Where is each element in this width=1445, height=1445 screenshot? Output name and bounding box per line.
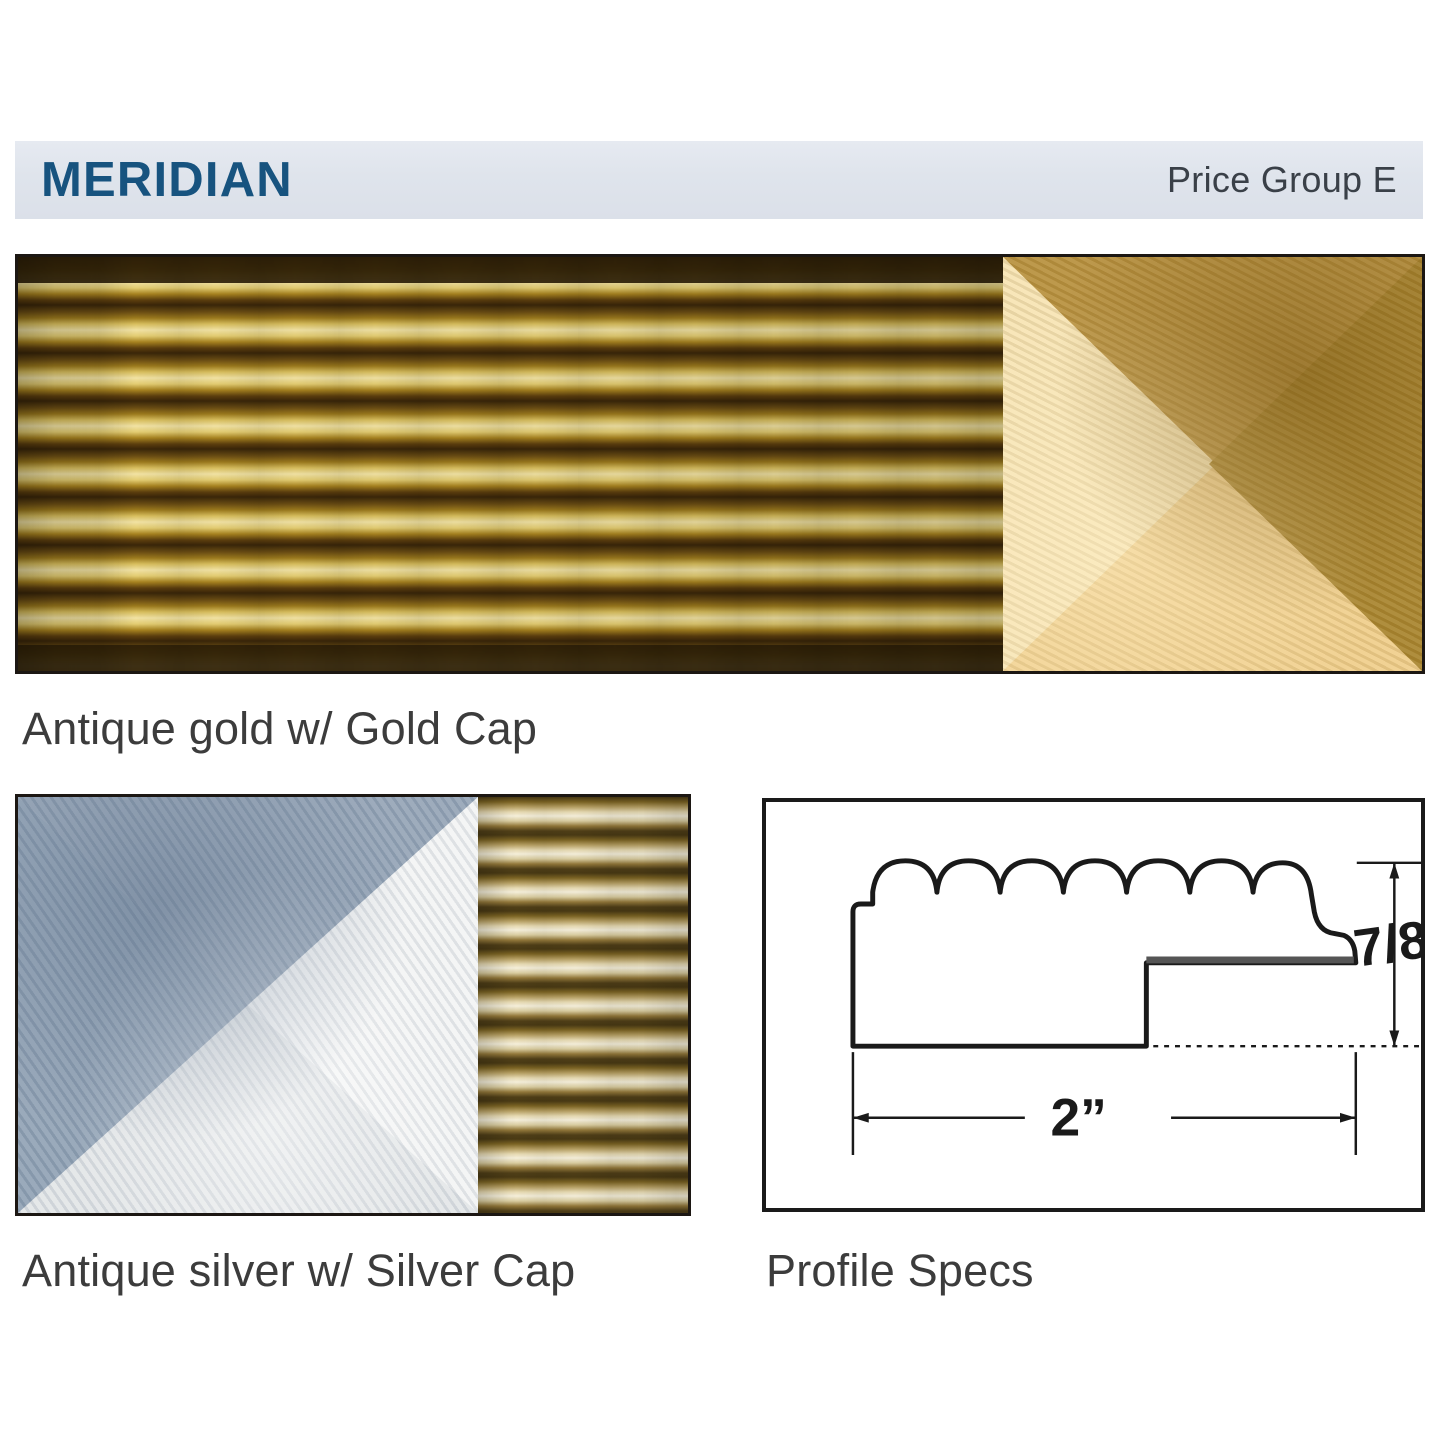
- fluted-moulding-gold: [18, 257, 1003, 671]
- caption-profile-specs: Profile Specs: [766, 1248, 1034, 1293]
- height-dimension-label: 7/8”: [1350, 906, 1421, 978]
- moulding-cross-section-path: [853, 861, 1356, 1046]
- moulding-top-edge-shadow: [18, 257, 1003, 283]
- height-arrowhead-bottom-icon: [1389, 1030, 1399, 1046]
- corner-cap-gold: [1003, 257, 1422, 671]
- profile-specs-diagram: 7/8” 2”: [762, 798, 1425, 1212]
- moulding-bottom-edge-shadow: [18, 645, 1003, 671]
- caption-gold-sample: Antique gold w/ Gold Cap: [22, 706, 537, 751]
- cap-facet-right-icon: [1209, 257, 1422, 671]
- cap-facet-right-icon: [248, 797, 478, 1213]
- caption-silver-sample: Antique silver w/ Silver Cap: [22, 1248, 575, 1293]
- sample-photo-silver: [15, 794, 691, 1216]
- page-title: MERIDIAN: [41, 156, 293, 205]
- fluted-moulding-silver: [478, 797, 688, 1213]
- sample-photo-silver-inner: [18, 797, 688, 1213]
- profile-cross-section-svg: 7/8” 2”: [766, 802, 1421, 1208]
- price-group-label: Price Group E: [1167, 162, 1397, 198]
- header-bar: MERIDIAN Price Group E: [15, 141, 1423, 219]
- sample-photo-gold-inner: [18, 257, 1422, 671]
- width-dimension-label: 2”: [1051, 1089, 1107, 1148]
- cap-facet-left-icon: [18, 797, 248, 1213]
- sample-photo-gold: [15, 254, 1425, 674]
- height-arrowhead-top-icon: [1389, 863, 1399, 879]
- width-arrowhead-left-icon: [853, 1113, 869, 1123]
- corner-cap-silver: [18, 797, 478, 1213]
- cap-facet-left-icon: [1003, 257, 1216, 671]
- width-arrowhead-right-icon: [1340, 1113, 1356, 1123]
- spec-sheet-page: MERIDIAN Price Group E Antique gold w/ G…: [0, 0, 1445, 1445]
